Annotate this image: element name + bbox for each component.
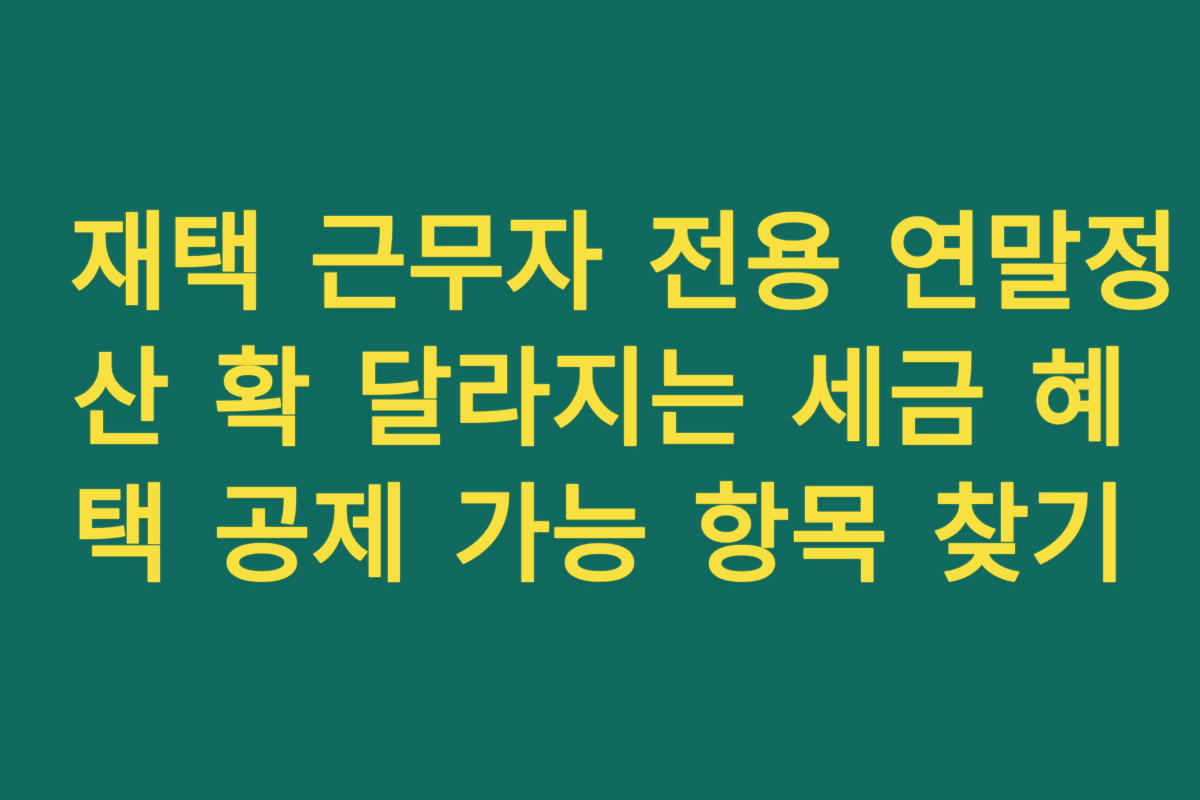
thumbnail-banner: 재택 근무자 전용 연말정 산 확 달라지는 세금 혜 택 공제 가능 항목 찾…: [0, 0, 1200, 800]
headline-line-3: 택 공제 가능 항목 찾기: [70, 468, 1130, 604]
headline-line-1: 재택 근무자 전용 연말정: [70, 196, 1130, 332]
headline: 재택 근무자 전용 연말정 산 확 달라지는 세금 혜 택 공제 가능 항목 찾…: [70, 196, 1130, 603]
headline-line-2: 산 확 달라지는 세금 혜: [70, 332, 1130, 468]
